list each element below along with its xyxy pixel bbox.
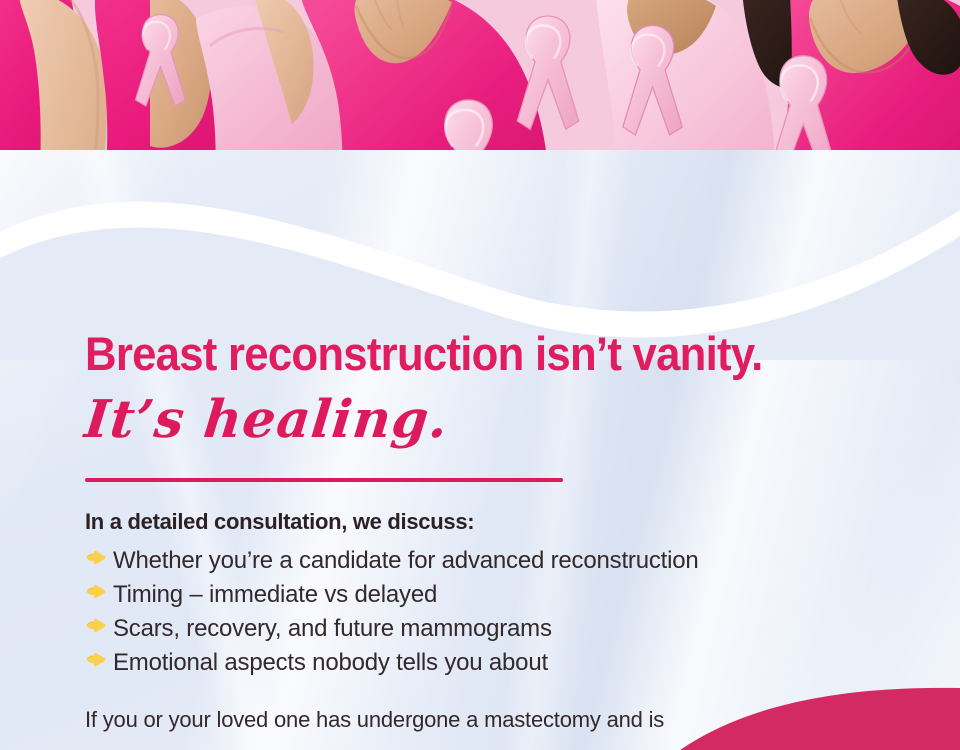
closing-paragraph: If you or your loved one has undergone a… bbox=[85, 704, 725, 735]
content-area: Breast reconstruction isn’t vanity. It’s… bbox=[0, 330, 960, 750]
pointing-hand-icon bbox=[85, 652, 113, 669]
list-item: Timing – immediate vs delayed bbox=[85, 578, 900, 612]
pointing-hand-icon bbox=[85, 618, 113, 635]
divider-rule bbox=[85, 478, 563, 482]
list-item: Emotional aspects nobody tells you about bbox=[85, 646, 900, 680]
list-item-label: Emotional aspects nobody tells you about bbox=[113, 646, 548, 680]
consultation-list: Whether you’re a candidate for advanced … bbox=[85, 544, 900, 680]
list-item-label: Timing – immediate vs delayed bbox=[113, 578, 437, 612]
list-item: Whether you’re a candidate for advanced … bbox=[85, 544, 900, 578]
list-item-label: Scars, recovery, and future mammograms bbox=[113, 612, 552, 646]
poster: Breast reconstruction isn’t vanity. It’s… bbox=[0, 0, 960, 750]
page-subtitle-script: It’s healing. bbox=[82, 393, 903, 448]
page-title: Breast reconstruction isn’t vanity. bbox=[85, 330, 843, 377]
pointing-hand-icon bbox=[85, 550, 113, 567]
consultation-heading: In a detailed consultation, we discuss: bbox=[85, 509, 900, 535]
pointing-hand-icon bbox=[85, 584, 113, 601]
list-item-label: Whether you’re a candidate for advanced … bbox=[113, 544, 699, 578]
list-item: Scars, recovery, and future mammograms bbox=[85, 612, 900, 646]
